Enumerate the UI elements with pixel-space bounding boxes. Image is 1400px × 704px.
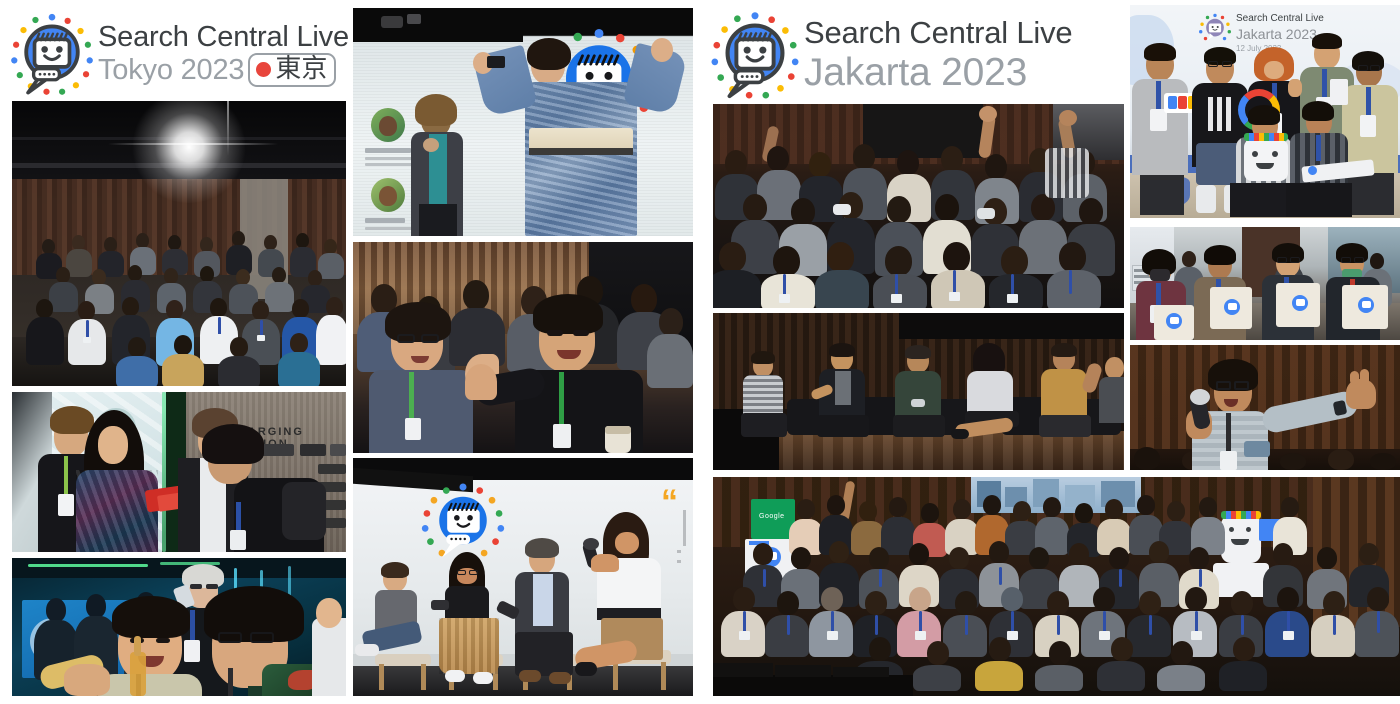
photo-tokyo-speaker-yukata-stage [353, 8, 693, 236]
japan-flag-dot-icon [256, 62, 271, 77]
photo-banner-logo [1198, 12, 1232, 51]
photo-banner-title-line2: Jakarta 2023 [1236, 26, 1317, 42]
jakarta-title-line2: Jakarta 2023 [804, 51, 1072, 95]
photo-tokyo-panel-discussion: “ [353, 458, 693, 696]
jakarta-event-header: Search Central Live Jakarta 2023 [706, 6, 1072, 104]
tokyo-header-text: Search Central Live Tokyo 2023 東京 [98, 21, 349, 87]
tokyo-japanese-badge: 東京 [248, 53, 336, 87]
photo-jakarta-attendee-question-mic [1130, 345, 1400, 470]
photo-tokyo-attendees-heart-hands [353, 242, 693, 453]
photo-jakarta-attendees-tote-bags [1130, 227, 1400, 340]
jakarta-header-text: Search Central Live Jakarta 2023 [804, 15, 1072, 95]
photo-tokyo-group-audience [12, 101, 346, 386]
photo-jakarta-audience-waving [713, 104, 1124, 308]
search-central-mascot-logo [706, 6, 804, 104]
audience-crowd [713, 104, 1124, 308]
jakarta-title-line1: Search Central Live [804, 15, 1072, 51]
photo-jakarta-panel-stage [713, 313, 1124, 470]
photo-jakarta-full-group-photo: Google [713, 477, 1400, 696]
tokyo-title-line2: Tokyo 2023 [98, 54, 244, 86]
tokyo-title-line1: Search Central Live [98, 21, 349, 53]
photo-jakarta-photobooth-group: Search Central Live Jakarta 2023 12 July… [1130, 5, 1400, 218]
photo-tokyo-networking-drinks [12, 558, 346, 696]
quote-mark-icon: “ [661, 492, 678, 512]
audience-crowd [12, 101, 346, 386]
tokyo-event-header: Search Central Live Tokyo 2023 東京 [6, 8, 349, 100]
audience-crowd [713, 477, 1400, 696]
photo-banner-title-line1: Search Central Live [1236, 13, 1324, 24]
search-central-mascot-logo [6, 8, 98, 100]
photo-collage-page: Search Central Live Tokyo 2023 東京 [0, 0, 1400, 704]
photo-tokyo-expo-charging-station: CHARGING STATION [12, 392, 346, 552]
tokyo-badge-text: 東京 [275, 56, 327, 82]
